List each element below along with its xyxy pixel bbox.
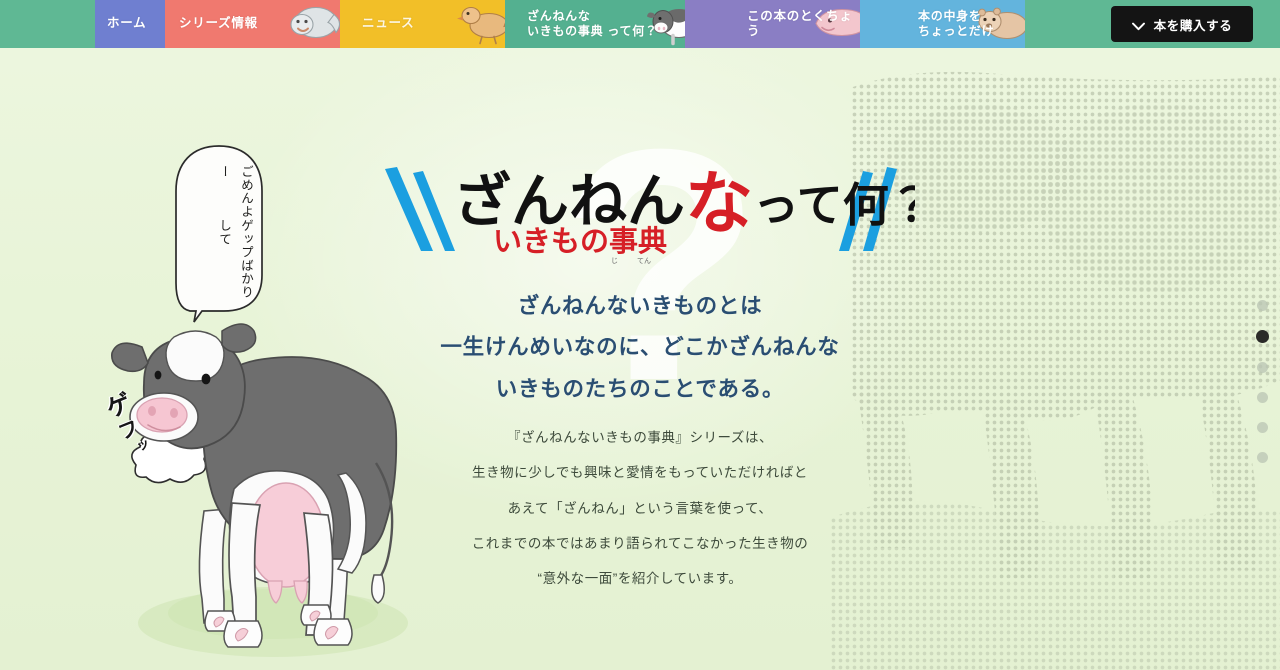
speech-bubble-text: ゲップばかりして ごめんよー bbox=[172, 143, 266, 323]
speech-bubble: ゲップばかりして ごめんよー bbox=[172, 143, 266, 323]
cow-ear-right bbox=[222, 324, 256, 352]
nav-item-book-features[interactable]: この本のとくちょう bbox=[685, 0, 860, 48]
nav-item-book-features-label: この本のとくちょう bbox=[747, 9, 860, 40]
hero-lead-line-2: 一生けんめいなのに、どこかざんねんな bbox=[400, 327, 880, 368]
title-main-red: な bbox=[685, 166, 753, 242]
buy-book-button-label: 本を購入する bbox=[1154, 15, 1233, 34]
hero-title-art: ざんねん な って何？ いきもの事典 じ てん bbox=[375, 153, 915, 268]
buy-book-button[interactable]: 本を購入する bbox=[1111, 6, 1253, 42]
title-subtitle: いきもの事典 bbox=[493, 225, 667, 258]
hero-lead-paragraph: ざんねんないきものとは 一生けんめいなのに、どこかざんねんな いきものたちのこと… bbox=[400, 286, 880, 410]
nav-item-news-label: ニュース bbox=[362, 16, 414, 31]
hero-section: ? ざんねん な って何？ いきもの事典 じ てん ざんね bbox=[0, 48, 1280, 670]
nav-item-book-inside[interactable]: 本の中身を ちょっとだけ bbox=[860, 0, 1025, 48]
page-dot-4[interactable] bbox=[1257, 392, 1268, 403]
hero-body-line-3: あえて「ざんねん」という言葉を使って、 bbox=[400, 491, 880, 526]
burp-sound-effect: ゲ フ ッ bbox=[104, 384, 168, 458]
page-dots-navigation[interactable] bbox=[1256, 300, 1269, 463]
halftone-animal-watermark bbox=[830, 48, 1280, 670]
dugong-icon bbox=[282, 0, 340, 48]
page-dot-3[interactable] bbox=[1257, 362, 1268, 373]
nav-item-what-is[interactable]: ざんねんな いきもの事典 って何？ bbox=[505, 0, 685, 48]
page-dot-1[interactable] bbox=[1257, 300, 1268, 311]
chicken-icon bbox=[449, 0, 505, 48]
title-accent-strokes-left bbox=[385, 167, 455, 251]
hero-body-line-1: 『ざんねんないきもの事典』シリーズは、 bbox=[400, 420, 880, 455]
hero-lead-line-3: いきものたちのことである。 bbox=[400, 369, 880, 410]
cow-illustration bbox=[108, 313, 408, 663]
hero-body-paragraph: 『ざんねんないきもの事典』シリーズは、 生き物に少しでも興味と愛情をもっていただ… bbox=[400, 420, 880, 597]
cow-eye-right bbox=[202, 374, 211, 385]
hero-body-line-5: “意外な一面”を紹介しています。 bbox=[400, 561, 880, 596]
cow-eye-left bbox=[155, 371, 162, 380]
title-ruby-2: てん bbox=[637, 257, 651, 265]
page-dot-5[interactable] bbox=[1257, 422, 1268, 433]
hero-lead-line-1: ざんねんないきものとは bbox=[400, 286, 880, 327]
nav-item-home[interactable]: ホーム bbox=[95, 0, 165, 48]
nav-item-news[interactable]: ニュース bbox=[340, 0, 505, 48]
nav-item-what-is-label: ざんねんな いきもの事典 って何？ bbox=[527, 9, 658, 38]
main-navigation: ホーム シリーズ情報 ニュース bbox=[0, 0, 1280, 48]
nav-item-home-label: ホーム bbox=[107, 16, 146, 31]
title-ruby-1: じ bbox=[611, 257, 618, 265]
nav-item-book-inside-label: 本の中身を ちょっとだけ bbox=[918, 9, 994, 38]
nav-item-series-info-label: シリーズ情報 bbox=[179, 16, 258, 31]
cow-ear-left bbox=[112, 343, 148, 371]
nav-item-series-info[interactable]: シリーズ情報 bbox=[165, 0, 340, 48]
hero-body-line-2: 生き物に少しでも興味と愛情をもっていただければと bbox=[400, 455, 880, 490]
speech-bubble-line-2: ごめんよー bbox=[212, 165, 256, 219]
hero-title: ざんねん な って何？ いきもの事典 じ てん bbox=[375, 153, 915, 268]
nav-left-spacer bbox=[0, 0, 95, 48]
page-dot-2-active[interactable] bbox=[1256, 330, 1269, 343]
title-main-black-2: って何？ bbox=[753, 180, 915, 231]
chevron-down-icon bbox=[1132, 20, 1145, 29]
speech-bubble-line-1: ゲップばかりして bbox=[212, 219, 256, 305]
hero-body-line-4: これまでの本ではあまり語られてこなかった生き物の bbox=[400, 526, 880, 561]
burp-sfx-char-3: ッ bbox=[133, 432, 152, 454]
title-main-black-1: ざんねん bbox=[453, 169, 685, 234]
page-dot-6[interactable] bbox=[1257, 452, 1268, 463]
